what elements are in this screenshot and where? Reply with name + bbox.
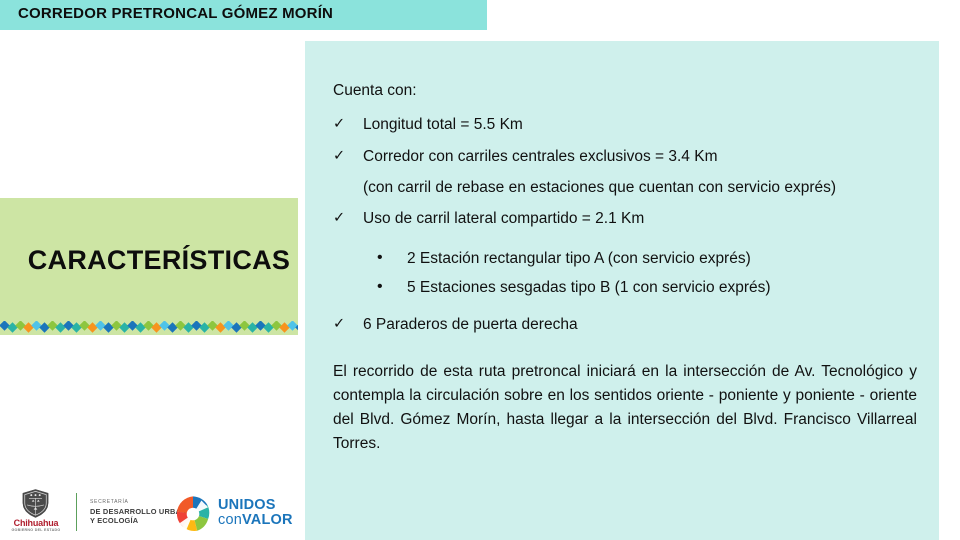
bullet-dot-icon: • xyxy=(377,250,407,267)
section-heading-box: CARACTERÍSTICAS xyxy=(0,198,298,323)
check-icon: ✓ xyxy=(333,116,363,133)
sub-note-text: (con carril de rebase en estaciones que … xyxy=(363,179,917,197)
content-body: Cuenta con: ✓ Longitud total = 5.5 Km ✓ … xyxy=(333,82,917,456)
slide-title-bar: CORREDOR PRETRONCAL GÓMEZ MORÍN xyxy=(0,0,487,30)
content-panel: Cuenta con: ✓ Longitud total = 5.5 Km ✓ … xyxy=(305,41,939,540)
check-icon: ✓ xyxy=(333,316,363,333)
logo-divider xyxy=(76,493,77,531)
check-icon: ✓ xyxy=(333,210,363,227)
unidos-line-2-con: con xyxy=(218,512,242,528)
list-item: ✓ 6 Paraderos de puerta derecha xyxy=(333,316,917,334)
sub-list-item-label: 2 Estación rectangular tipo A (con servi… xyxy=(407,250,917,268)
page-title: CORREDOR PRETRONCAL GÓMEZ MORÍN xyxy=(18,5,333,22)
list-item-label: Uso de carril lateral compartido = 2.1 K… xyxy=(363,210,917,228)
list-item: ✓ Uso de carril lateral compartido = 2.1… xyxy=(333,210,917,228)
decorative-diamond-strip xyxy=(0,321,298,335)
list-item-label: Corredor con carriles centrales exclusiv… xyxy=(363,148,917,166)
closing-paragraph: El recorrido de esta ruta pretroncal ini… xyxy=(333,360,917,456)
bullet-dot-icon: • xyxy=(377,279,407,296)
spacer xyxy=(333,308,917,316)
unidos-line-1: UNIDOS xyxy=(218,498,293,513)
unidos-line-2-valor: VALOR xyxy=(242,512,293,528)
list-item: ✓ Corredor con carriles centrales exclus… xyxy=(333,148,917,166)
chihuahua-government-logo: Chihuahua GOBIERNO DEL ESTADO xyxy=(8,489,64,537)
list-item-label: 6 Paraderos de puerta derecha xyxy=(363,316,917,334)
list-item: ✓ Longitud total = 5.5 Km xyxy=(333,116,917,134)
shield-icon xyxy=(21,489,50,518)
sub-list-item-label: 5 Estaciones sesgadas tipo B (1 con serv… xyxy=(407,279,917,297)
chihuahua-wordmark: Chihuahua xyxy=(8,518,64,528)
lead-line: Cuenta con: xyxy=(333,82,917,100)
check-icon: ✓ xyxy=(333,148,363,165)
footer-logo-bar: Chihuahua GOBIERNO DEL ESTADO SECRETARÍA… xyxy=(0,487,300,540)
spacer xyxy=(333,242,917,250)
pinwheel-icon xyxy=(172,493,214,535)
sub-list-item: • 5 Estaciones sesgadas tipo B (1 con se… xyxy=(377,279,917,297)
sub-list-item: • 2 Estación rectangular tipo A (con ser… xyxy=(377,250,917,268)
chihuahua-subtitle: GOBIERNO DEL ESTADO xyxy=(8,528,64,532)
unidos-wordmark: UNIDOS conVALOR xyxy=(218,498,293,528)
section-heading-label: CARACTERÍSTICAS xyxy=(8,245,291,276)
list-item-label: Longitud total = 5.5 Km xyxy=(363,116,917,134)
unidos-con-valor-logo: UNIDOS conVALOR xyxy=(172,490,302,536)
